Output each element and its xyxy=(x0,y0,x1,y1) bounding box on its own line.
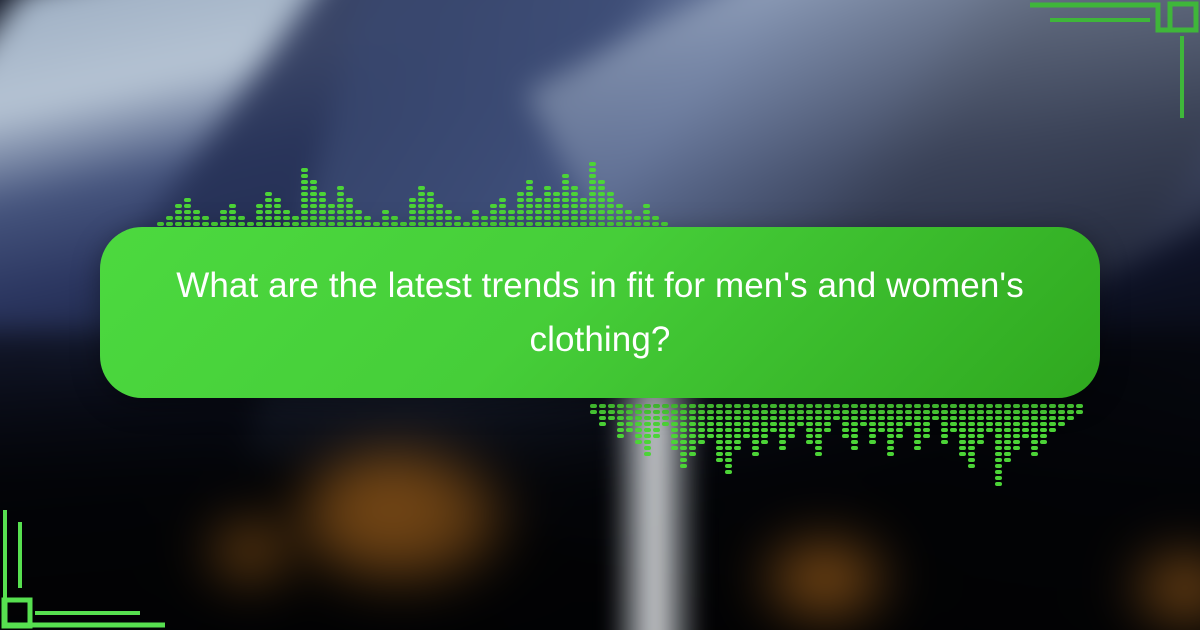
waveform-dot xyxy=(571,186,578,190)
waveform-dot xyxy=(319,198,326,202)
waveform-bar xyxy=(815,404,822,456)
waveform-dot xyxy=(680,446,687,450)
waveform-dot xyxy=(779,434,786,438)
waveform-dot xyxy=(995,476,1002,480)
waveform-dot xyxy=(616,210,623,214)
waveform-dot xyxy=(427,204,434,208)
waveform-dot xyxy=(869,428,876,432)
waveform-dot xyxy=(1004,446,1011,450)
waveform-dot xyxy=(797,410,804,414)
waveform-dot xyxy=(427,198,434,202)
waveform-dot xyxy=(310,216,317,220)
waveform-dot xyxy=(346,222,353,226)
waveform-dot xyxy=(590,404,597,408)
waveform-dot xyxy=(301,186,308,190)
waveform-dot xyxy=(815,434,822,438)
waveform-dot xyxy=(1004,452,1011,456)
waveform-dot xyxy=(923,422,930,426)
waveform-bar xyxy=(607,192,614,232)
waveform-dot xyxy=(968,458,975,462)
waveform-dot xyxy=(617,422,624,426)
waveform-dot xyxy=(905,416,912,420)
waveform-dot xyxy=(544,192,551,196)
waveform-dot xyxy=(995,440,1002,444)
waveform-dot xyxy=(328,216,335,220)
waveform-bar xyxy=(725,404,732,474)
waveform-dot xyxy=(265,204,272,208)
waveform-dot xyxy=(914,446,921,450)
waveform-dot xyxy=(319,210,326,214)
waveform-dot xyxy=(400,222,407,226)
waveform-dot xyxy=(544,198,551,202)
waveform-dot xyxy=(968,440,975,444)
waveform-dot xyxy=(788,404,795,408)
waveform-dot xyxy=(617,410,624,414)
waveform-dot xyxy=(229,204,236,208)
waveform-dot xyxy=(671,416,678,420)
waveform-dot xyxy=(743,416,750,420)
waveform-dot xyxy=(950,422,957,426)
waveform-dot xyxy=(959,428,966,432)
waveform-dot xyxy=(797,416,804,420)
waveform-dot xyxy=(689,452,696,456)
waveform-dot xyxy=(1022,434,1029,438)
waveform-dot xyxy=(725,458,732,462)
waveform-dot xyxy=(553,216,560,220)
waveform-dot xyxy=(472,216,479,220)
waveform-dot xyxy=(725,446,732,450)
waveform-dot xyxy=(968,428,975,432)
waveform-dot xyxy=(247,222,254,226)
waveform-dot xyxy=(950,404,957,408)
waveform-dot xyxy=(878,422,885,426)
waveform-dot xyxy=(590,410,597,414)
waveform-dot xyxy=(256,210,263,214)
waveform-dot xyxy=(355,210,362,214)
waveform-dot xyxy=(968,404,975,408)
waveform-dot xyxy=(571,198,578,202)
waveform-dot xyxy=(869,416,876,420)
waveform-dot xyxy=(779,446,786,450)
waveform-dot xyxy=(562,174,569,178)
waveform-bar xyxy=(932,404,939,420)
waveform-dot xyxy=(1031,428,1038,432)
waveform-dot xyxy=(1049,416,1056,420)
waveform-dot xyxy=(995,428,1002,432)
waveform-dot xyxy=(743,404,750,408)
waveform-dot xyxy=(544,222,551,226)
waveform-dot xyxy=(562,222,569,226)
waveform-dot xyxy=(427,222,434,226)
waveform-dot xyxy=(427,210,434,214)
waveform-dot xyxy=(571,192,578,196)
waveform-dot xyxy=(995,446,1002,450)
waveform-dot xyxy=(517,192,524,196)
waveform-dot xyxy=(274,204,281,208)
question-text: What are the latest trends in fit for me… xyxy=(158,259,1042,365)
waveform-dot xyxy=(607,222,614,226)
waveform-bar xyxy=(590,404,597,414)
waveform-dot xyxy=(229,222,236,226)
waveform-dot xyxy=(526,216,533,220)
waveform-dot xyxy=(1004,404,1011,408)
waveform-dot xyxy=(734,422,741,426)
waveform-dot xyxy=(265,222,272,226)
waveform-dot xyxy=(968,446,975,450)
waveform-dot xyxy=(698,428,705,432)
waveform-dot xyxy=(806,428,813,432)
waveform-dot xyxy=(607,216,614,220)
waveform-dot xyxy=(725,440,732,444)
waveform-dot xyxy=(337,198,344,202)
waveform-dot xyxy=(193,210,200,214)
waveform-dot xyxy=(463,222,470,226)
waveform-dot xyxy=(833,410,840,414)
waveform-bar xyxy=(1067,404,1074,420)
waveform-bar xyxy=(427,192,434,232)
waveform-dot xyxy=(968,452,975,456)
waveform-dot xyxy=(752,428,759,432)
waveform-bar xyxy=(752,404,759,456)
waveform-dot xyxy=(851,416,858,420)
waveform-bar xyxy=(1004,404,1011,462)
waveform-dot xyxy=(391,216,398,220)
waveform-dot xyxy=(310,222,317,226)
waveform-dot xyxy=(770,404,777,408)
question-card[interactable]: What are the latest trends in fit for me… xyxy=(100,227,1100,398)
waveform-dot xyxy=(301,222,308,226)
waveform-dot xyxy=(310,180,317,184)
waveform-dot xyxy=(707,410,714,414)
waveform-dot xyxy=(806,422,813,426)
waveform-dot xyxy=(878,404,885,408)
waveform-dot xyxy=(878,416,885,420)
waveform-dot xyxy=(905,404,912,408)
waveform-dot xyxy=(887,446,894,450)
waveform-dot xyxy=(1031,452,1038,456)
waveform-dot xyxy=(851,422,858,426)
waveform-dot xyxy=(977,434,984,438)
waveform-dot xyxy=(175,210,182,214)
promo-card-canvas: What are the latest trends in fit for me… xyxy=(0,0,1200,630)
waveform-dot xyxy=(689,446,696,450)
waveform-dot xyxy=(635,416,642,420)
waveform-dot xyxy=(1022,416,1029,420)
waveform-dot xyxy=(896,404,903,408)
waveform-dot xyxy=(157,222,164,226)
waveform-bar xyxy=(671,404,678,450)
waveform-bar xyxy=(319,192,326,232)
waveform-dot xyxy=(788,416,795,420)
waveform-dot xyxy=(689,440,696,444)
waveform-bar xyxy=(986,404,993,432)
waveform-bar xyxy=(734,404,741,450)
waveform-dot xyxy=(589,198,596,202)
waveform-dot xyxy=(526,186,533,190)
waveform-dot xyxy=(806,434,813,438)
waveform-bar xyxy=(860,404,867,426)
waveform-dot xyxy=(716,410,723,414)
waveform-dot xyxy=(761,416,768,420)
waveform-dot xyxy=(743,422,750,426)
waveform-dot xyxy=(310,198,317,202)
waveform-dot xyxy=(869,410,876,414)
waveform-dot xyxy=(752,440,759,444)
waveform-dot xyxy=(553,192,560,196)
waveform-dot xyxy=(680,458,687,462)
waveform-dot xyxy=(671,440,678,444)
waveform-dot xyxy=(391,222,398,226)
waveform-dot xyxy=(346,198,353,202)
waveform-dot xyxy=(1040,434,1047,438)
waveform-dot xyxy=(698,440,705,444)
waveform-dot xyxy=(887,404,894,408)
waveform-dot xyxy=(355,216,362,220)
waveform-dot xyxy=(256,222,263,226)
waveform-dot xyxy=(535,204,542,208)
waveform-bar xyxy=(517,192,524,232)
waveform-dot xyxy=(725,452,732,456)
waveform-dot xyxy=(941,410,948,414)
waveform-dot xyxy=(598,210,605,214)
waveform-dot xyxy=(571,216,578,220)
waveform-dot xyxy=(824,404,831,408)
waveform-dot xyxy=(499,198,506,202)
waveform-dot xyxy=(671,422,678,426)
waveform-dot xyxy=(923,416,930,420)
waveform-dot xyxy=(598,192,605,196)
waveform-dot xyxy=(1067,416,1074,420)
waveform-dot xyxy=(310,192,317,196)
waveform-dot xyxy=(1004,410,1011,414)
waveform-dot xyxy=(562,186,569,190)
waveform-dot xyxy=(1004,416,1011,420)
waveform-dot xyxy=(644,410,651,414)
waveform-dot xyxy=(535,222,542,226)
waveform-dot xyxy=(319,216,326,220)
waveform-dot xyxy=(175,216,182,220)
waveform-dot xyxy=(806,440,813,444)
waveform-dot xyxy=(707,416,714,420)
waveform-dot xyxy=(1013,434,1020,438)
waveform-dot xyxy=(824,410,831,414)
waveform-dot xyxy=(662,404,669,408)
waveform-dot xyxy=(1058,404,1065,408)
audio-waveform-top xyxy=(148,162,668,232)
waveform-dot xyxy=(499,210,506,214)
waveform-dot xyxy=(220,210,227,214)
waveform-dot xyxy=(616,216,623,220)
waveform-dot xyxy=(418,210,425,214)
waveform-dot xyxy=(589,222,596,226)
waveform-dot xyxy=(301,180,308,184)
waveform-dot xyxy=(1013,440,1020,444)
waveform-dot xyxy=(788,434,795,438)
waveform-dot xyxy=(986,416,993,420)
waveform-dot xyxy=(490,222,497,226)
waveform-dot xyxy=(968,410,975,414)
waveform-dot xyxy=(770,410,777,414)
waveform-dot xyxy=(887,428,894,432)
waveform-dot xyxy=(698,416,705,420)
waveform-dot xyxy=(707,434,714,438)
waveform-dot xyxy=(589,192,596,196)
waveform-dot xyxy=(680,452,687,456)
waveform-dot xyxy=(436,222,443,226)
waveform-dot xyxy=(734,440,741,444)
waveform-dot xyxy=(1049,410,1056,414)
waveform-bar xyxy=(743,404,750,438)
waveform-dot xyxy=(905,410,912,414)
waveform-dot xyxy=(761,428,768,432)
waveform-dot xyxy=(725,416,732,420)
waveform-dot xyxy=(598,198,605,202)
waveform-bar xyxy=(923,404,930,438)
waveform-bar xyxy=(833,404,840,420)
waveform-dot xyxy=(1004,440,1011,444)
waveform-dot xyxy=(337,192,344,196)
waveform-dot xyxy=(698,434,705,438)
waveform-dot xyxy=(788,410,795,414)
waveform-dot xyxy=(202,216,209,220)
waveform-dot xyxy=(779,404,786,408)
waveform-dot xyxy=(842,404,849,408)
waveform-dot xyxy=(1004,422,1011,426)
waveform-dot xyxy=(643,204,650,208)
waveform-dot xyxy=(842,434,849,438)
waveform-dot xyxy=(427,216,434,220)
waveform-dot xyxy=(950,416,957,420)
waveform-dot xyxy=(526,180,533,184)
waveform-dot xyxy=(652,216,659,220)
waveform-dot xyxy=(265,216,272,220)
waveform-dot xyxy=(1049,422,1056,426)
waveform-dot xyxy=(238,216,245,220)
waveform-dot xyxy=(869,434,876,438)
waveform-dot xyxy=(202,222,209,226)
waveform-dot xyxy=(535,210,542,214)
waveform-dot xyxy=(229,216,236,220)
waveform-dot xyxy=(941,440,948,444)
waveform-dot xyxy=(887,410,894,414)
waveform-dot xyxy=(959,446,966,450)
waveform-dot xyxy=(689,422,696,426)
waveform-bar xyxy=(635,404,642,444)
waveform-dot xyxy=(977,422,984,426)
waveform-bar xyxy=(959,404,966,456)
waveform-dot xyxy=(1058,416,1065,420)
waveform-dot xyxy=(734,434,741,438)
waveform-dot xyxy=(653,434,660,438)
waveform-dot xyxy=(815,446,822,450)
waveform-dot xyxy=(193,222,200,226)
waveform-dot xyxy=(337,222,344,226)
waveform-dot xyxy=(860,410,867,414)
waveform-dot xyxy=(941,416,948,420)
waveform-dot xyxy=(842,410,849,414)
waveform-dot xyxy=(418,198,425,202)
waveform-dot xyxy=(761,404,768,408)
waveform-dot xyxy=(905,422,912,426)
waveform-dot xyxy=(761,422,768,426)
waveform-dot xyxy=(580,198,587,202)
waveform-dot xyxy=(1040,422,1047,426)
waveform-dot xyxy=(860,416,867,420)
audio-waveform-bottom xyxy=(590,404,1083,486)
waveform-dot xyxy=(364,222,371,226)
waveform-dot xyxy=(644,422,651,426)
waveform-dot xyxy=(274,198,281,202)
waveform-dot xyxy=(617,416,624,420)
waveform-dot xyxy=(1067,404,1074,408)
waveform-dot xyxy=(644,404,651,408)
waveform-dot xyxy=(418,192,425,196)
waveform-dot xyxy=(725,434,732,438)
waveform-dot xyxy=(743,410,750,414)
waveform-dot xyxy=(274,210,281,214)
waveform-dot xyxy=(950,410,957,414)
waveform-dot xyxy=(229,210,236,214)
waveform-dot xyxy=(815,452,822,456)
waveform-dot xyxy=(445,216,452,220)
waveform-dot xyxy=(599,416,606,420)
waveform-dot xyxy=(1040,440,1047,444)
waveform-dot xyxy=(1004,434,1011,438)
waveform-dot xyxy=(725,464,732,468)
waveform-dot xyxy=(995,482,1002,486)
waveform-dot xyxy=(815,404,822,408)
waveform-dot xyxy=(725,470,732,474)
waveform-dot xyxy=(526,192,533,196)
waveform-dot xyxy=(1022,422,1029,426)
waveform-bar xyxy=(680,404,687,468)
waveform-dot xyxy=(517,204,524,208)
waveform-dot xyxy=(175,222,182,226)
waveform-dot xyxy=(1013,416,1020,420)
waveform-dot xyxy=(472,210,479,214)
waveform-dot xyxy=(923,404,930,408)
waveform-bar xyxy=(869,404,876,444)
waveform-dot xyxy=(643,222,650,226)
waveform-dot xyxy=(815,416,822,420)
waveform-dot xyxy=(1040,416,1047,420)
waveform-dot xyxy=(644,452,651,456)
waveform-dot xyxy=(716,404,723,408)
waveform-dot xyxy=(815,440,822,444)
waveform-dot xyxy=(941,428,948,432)
waveform-dot xyxy=(571,210,578,214)
waveform-dot xyxy=(869,440,876,444)
waveform-dot xyxy=(544,204,551,208)
waveform-dot xyxy=(445,222,452,226)
waveform-dot xyxy=(716,446,723,450)
waveform-dot xyxy=(256,216,263,220)
waveform-bar xyxy=(950,404,957,432)
waveform-dot xyxy=(797,422,804,426)
waveform-dot xyxy=(589,174,596,178)
waveform-dot xyxy=(535,216,542,220)
waveform-bar xyxy=(770,404,777,432)
waveform-dot xyxy=(310,204,317,208)
waveform-dot xyxy=(734,416,741,420)
waveform-dot xyxy=(346,216,353,220)
waveform-dot xyxy=(806,410,813,414)
waveform-dot xyxy=(959,440,966,444)
waveform-dot xyxy=(319,222,326,226)
waveform-dot xyxy=(968,416,975,420)
waveform-dot xyxy=(770,422,777,426)
waveform-dot xyxy=(589,180,596,184)
